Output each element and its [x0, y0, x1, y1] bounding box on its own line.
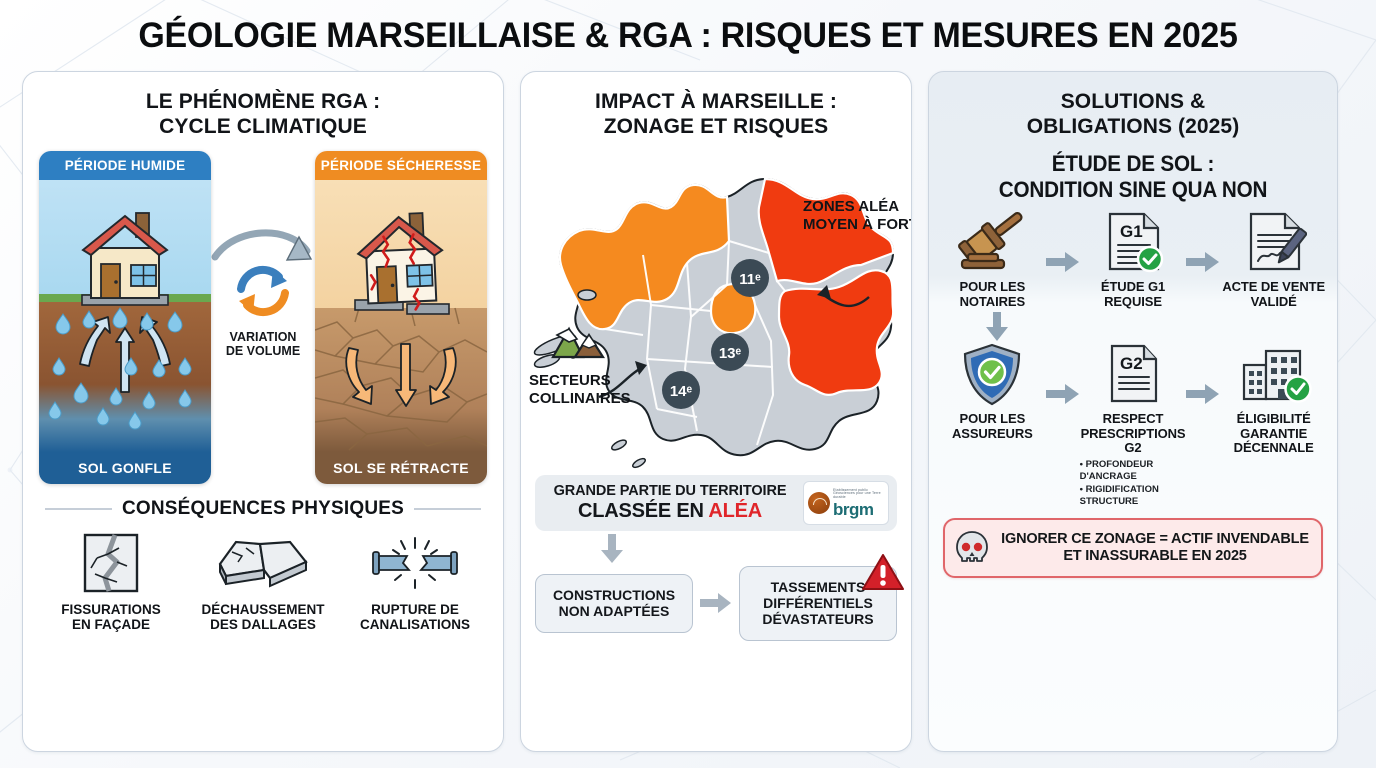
- dry-soil-diagram: [315, 180, 487, 452]
- dry-period-illustration: [315, 180, 487, 452]
- risk-warning-line2: ET INASSURABLE EN 2025: [999, 548, 1311, 565]
- dry-period-header: PÉRIODE SÉCHERESSE: [315, 151, 487, 180]
- brgm-banner-line2-prefix: CLASSÉE EN: [578, 500, 708, 522]
- brgm-banner-highlight: ALÉA: [708, 500, 762, 522]
- district-badge-14e: 14ᵉ: [662, 371, 700, 409]
- annotation-zones-alea-line1: ZONES ALÉA: [803, 198, 899, 215]
- step-acte-de-vente: ACTE DE VENTE VALIDÉ: [1220, 211, 1327, 309]
- cracked-wall-icon: [75, 530, 147, 596]
- consequences-divider: CONSÉQUENCES PHYSIQUES: [23, 484, 503, 520]
- svg-text:14ᵉ: 14ᵉ: [670, 383, 693, 400]
- dry-period-footer: SOL SE RÉTRACTE: [315, 452, 487, 484]
- step-bullet-1: • PROFONDEUR D'ANCRAGE: [1080, 459, 1187, 484]
- panel-phenomene-rga: LE PHÉNOMÈNE RGA : CYCLE CLIMATIQUE PÉRI…: [22, 71, 504, 752]
- consequence-item-fissurations: FISSURATIONS EN FAÇADE: [40, 530, 182, 632]
- step-caption-line1: ÉTUDE G1: [1101, 280, 1165, 295]
- divider-line-right: [414, 508, 481, 510]
- step-caption-line2: GARANTIE: [1234, 427, 1314, 442]
- flow-box-line3: DÉVASTATEURS: [744, 611, 892, 627]
- step-caption-line2: REQUISE: [1101, 295, 1165, 310]
- divider-line-left: [45, 508, 112, 510]
- step-caption-line2: ASSUREURS: [952, 427, 1033, 442]
- panel3-subtitle-line2: CONDITION SINE QUA NON: [951, 177, 1316, 203]
- step-caption: POUR LES NOTAIRES: [960, 280, 1026, 309]
- district-badge-11e: 11ᵉ: [731, 259, 769, 297]
- brgm-tagline-line2: Géosciences pour une Terre durable: [833, 492, 884, 499]
- document-g1-icon: G1: [1100, 211, 1166, 275]
- consequence-caption: RUPTURE DE CANALISATIONS: [360, 602, 470, 632]
- step-caption: RESPECT PRESCRIPTIONS G2: [1080, 412, 1187, 456]
- map-svg[interactable]: 11ᵉ 13ᵉ 14ᵉ: [521, 145, 912, 475]
- step-caption-line2: NOTAIRES: [960, 295, 1026, 310]
- step-bullets: • PROFONDEUR D'ANCRAGE • RIGIDIFICATION …: [1080, 459, 1187, 508]
- flow-box-line2: DIFFÉRENTIELS: [744, 595, 892, 611]
- wet-period-header: PÉRIODE HUMIDE: [39, 151, 211, 180]
- step-pour-les-notaires: POUR LES NOTAIRES: [939, 211, 1046, 309]
- step-caption: ÉTUDE G1 REQUISE: [1101, 280, 1165, 309]
- cycle-label-line2: DE VOLUME: [226, 344, 300, 358]
- panel2-title-line2: ZONAGE ET RISQUES: [531, 115, 901, 140]
- arrow-g2-to-garantie: [1186, 343, 1220, 410]
- broken-slab-icon: [208, 530, 318, 596]
- wet-period-card: PÉRIODE HUMIDE: [39, 151, 211, 484]
- flow-down-arrow-wrap: [521, 532, 911, 566]
- annotation-secteurs-line1: SECTEURS: [529, 372, 611, 389]
- consequence-caption-line2: DES DALLAGES: [201, 617, 324, 632]
- brgm-banner: GRANDE PARTIE DU TERRITOIRE CLASSÉE EN A…: [535, 475, 897, 531]
- risk-warning-text: IGNORER CE ZONAGE = ACTIF INVENDABLE ET …: [999, 531, 1311, 566]
- consequence-item-dechaussement: DÉCHAUSSEMENT DES DALLAGES: [192, 530, 334, 632]
- arrow-right-icon: [700, 592, 732, 614]
- step-pour-les-assureurs: POUR LES ASSUREURS: [939, 343, 1046, 441]
- panel1-title-line2: CYCLE CLIMATIQUE: [33, 115, 493, 140]
- step-caption-line1: RESPECT: [1080, 412, 1187, 427]
- annotation-zones-alea-line2: MOYEN À FORT: [803, 216, 912, 233]
- flow-box-line2: NON ADAPTÉES: [540, 603, 688, 619]
- wet-period-illustration: [39, 180, 211, 452]
- marseille-zoning-map[interactable]: 11ᵉ 13ᵉ 14ᵉ: [521, 145, 911, 475]
- risk-warning-box: IGNORER CE ZONAGE = ACTIF INVENDABLE ET …: [943, 518, 1323, 578]
- step-prescriptions-g2: G2 RESPECT PRESCRIPTIONS G2 • PROFONDEUR…: [1080, 343, 1187, 508]
- arrow-notaires-to-g1: [1046, 211, 1080, 278]
- signed-contract-icon: [1241, 211, 1307, 275]
- brgm-banner-line2: CLASSÉE EN ALÉA: [545, 500, 795, 522]
- brgm-wordmark: Etablissement public Géosciences pour un…: [833, 489, 884, 518]
- consequence-caption: FISSURATIONS EN FAÇADE: [61, 602, 161, 632]
- panel-impact-marseille: IMPACT À MARSEILLE : ZONAGE ET RISQUES: [520, 71, 912, 752]
- step-caption-line1: ÉLIGIBILITÉ: [1234, 412, 1314, 427]
- annotation-secteurs-line2: COLLINAIRES: [529, 390, 631, 407]
- panel3-subtitle: ÉTUDE DE SOL : CONDITION SINE QUA NON: [941, 143, 1325, 207]
- document-g2-icon: G2: [1100, 343, 1166, 407]
- doc-label: G2: [1120, 354, 1143, 373]
- panel3-flow: POUR LES NOTAIRES G1: [929, 207, 1337, 508]
- arrow-g1-to-acte: [1186, 211, 1220, 278]
- step-bullet-2: • RIGIDIFICATION STRUCTURE: [1080, 484, 1187, 509]
- arrow-assureurs-to-g2: [1046, 343, 1080, 410]
- step-caption-line1: ACTE DE VENTE: [1222, 280, 1325, 295]
- consequence-caption-line2: EN FAÇADE: [61, 617, 161, 632]
- flow-box-line1: CONSTRUCTIONS: [540, 587, 688, 603]
- panel3-title-line1: SOLUTIONS &: [939, 90, 1327, 115]
- panel1-title: LE PHÉNOMÈNE RGA : CYCLE CLIMATIQUE: [23, 72, 503, 144]
- consequence-caption-line1: DÉCHAUSSEMENT: [201, 602, 324, 617]
- step-etude-g1: G1 ÉTUDE G1 REQUISE: [1080, 211, 1187, 309]
- step-garantie-decennale: ÉLIGIBILITÉ GARANTIE DÉCENNALE: [1220, 343, 1327, 456]
- dry-period-card: PÉRIODE SÉCHERESSE: [315, 151, 487, 484]
- arrow-right-icon: [1046, 383, 1080, 405]
- shield-check-icon: [959, 343, 1025, 407]
- panel-solutions-obligations: SOLUTIONS & OBLIGATIONS (2025) ÉTUDE DE …: [928, 71, 1338, 752]
- season-comparison: PÉRIODE HUMIDE: [23, 143, 503, 484]
- arrow-down-icon: [983, 311, 1011, 343]
- brgm-logo[interactable]: Etablissement public Géosciences pour un…: [803, 481, 889, 525]
- step-caption-line1: POUR LES: [952, 412, 1033, 427]
- gavel-icon: [954, 211, 1030, 275]
- brgm-banner-line1: GRANDE PARTIE DU TERRITOIRE: [545, 484, 795, 500]
- skull-icon: [955, 530, 989, 566]
- flow-box-constructions: CONSTRUCTIONS NON ADAPTÉES: [535, 574, 693, 632]
- consequence-item-rupture: RUPTURE DE CANALISATIONS: [344, 530, 486, 632]
- doc-label: G1: [1120, 222, 1143, 241]
- panel1-title-line1: LE PHÉNOMÈNE RGA :: [33, 90, 493, 115]
- step-caption-line3: DÉCENNALE: [1234, 441, 1314, 456]
- page-title: GÉOLOGIE MARSEILLAISE & RGA : RISQUES ET…: [42, 18, 1334, 55]
- wet-soil-diagram: [39, 180, 211, 452]
- panels-container: LE PHÉNOMÈNE RGA : CYCLE CLIMATIQUE PÉRI…: [22, 71, 1354, 752]
- panel3-title-line2: OBLIGATIONS (2025): [939, 115, 1327, 140]
- panel3-title: SOLUTIONS & OBLIGATIONS (2025): [929, 72, 1337, 144]
- panel3-row-notaires: POUR LES NOTAIRES G1: [939, 211, 1327, 309]
- step-caption-line2: VALIDÉ: [1222, 295, 1325, 310]
- panel2-title-line1: IMPACT À MARSEILLE :: [531, 90, 901, 115]
- panel3-subtitle-line1: ÉTUDE DE SOL :: [951, 151, 1316, 177]
- brgm-banner-text: GRANDE PARTIE DU TERRITOIRE CLASSÉE EN A…: [545, 484, 795, 522]
- volume-variation-indicator: VARIATION DE VOLUME: [211, 151, 315, 358]
- cycle-label-line1: VARIATION: [226, 330, 300, 344]
- panel2-flow: CONSTRUCTIONS NON ADAPTÉES TASSEMENTS DI…: [521, 566, 911, 640]
- step-caption-line2: PRESCRIPTIONS G2: [1080, 427, 1187, 456]
- consequence-caption: DÉCHAUSSEMENT DES DALLAGES: [201, 602, 324, 632]
- brgm-name: brgm: [833, 501, 884, 518]
- arrow-right-icon: [1186, 383, 1220, 405]
- step-caption: ACTE DE VENTE VALIDÉ: [1222, 280, 1325, 309]
- warning-triangle-icon: [861, 552, 905, 592]
- building-check-icon: [1236, 343, 1312, 407]
- cycle-arrows-icon: [211, 229, 315, 327]
- step-caption: ÉLIGIBILITÉ GARANTIE DÉCENNALE: [1234, 412, 1314, 456]
- consequence-caption-line1: FISSURATIONS: [61, 602, 161, 617]
- broken-pipe-icon: [363, 530, 467, 596]
- arrow-notaires-to-assureurs-wrap: [939, 311, 1327, 343]
- svg-text:13ᵉ: 13ᵉ: [719, 345, 742, 362]
- consequence-caption-line1: RUPTURE DE: [360, 602, 470, 617]
- district-badge-13e: 13ᵉ: [711, 333, 749, 371]
- consequences-heading: CONSÉQUENCES PHYSIQUES: [122, 498, 404, 520]
- panel2-title: IMPACT À MARSEILLE : ZONAGE ET RISQUES: [521, 72, 911, 144]
- brgm-mark-icon: [808, 492, 830, 514]
- arrow-right-icon: [1046, 251, 1080, 273]
- consequence-caption-line2: CANALISATIONS: [360, 617, 470, 632]
- consequences-list: FISSURATIONS EN FAÇADE: [23, 520, 503, 632]
- panel3-row-assureurs: POUR LES ASSUREURS G2: [939, 343, 1327, 508]
- step-caption-line1: POUR LES: [960, 280, 1026, 295]
- step-caption: POUR LES ASSUREURS: [952, 412, 1033, 441]
- cycle-label: VARIATION DE VOLUME: [226, 330, 300, 358]
- wet-period-footer: SOL GONFLE: [39, 452, 211, 484]
- infographic-page: GÉOLOGIE MARSEILLAISE & RGA : RISQUES ET…: [0, 0, 1376, 768]
- risk-warning-line1: IGNORER CE ZONAGE = ACTIF INVENDABLE: [999, 531, 1311, 548]
- svg-text:11ᵉ: 11ᵉ: [739, 271, 761, 288]
- arrow-right-icon: [1186, 251, 1220, 273]
- arrow-down-icon: [595, 532, 629, 566]
